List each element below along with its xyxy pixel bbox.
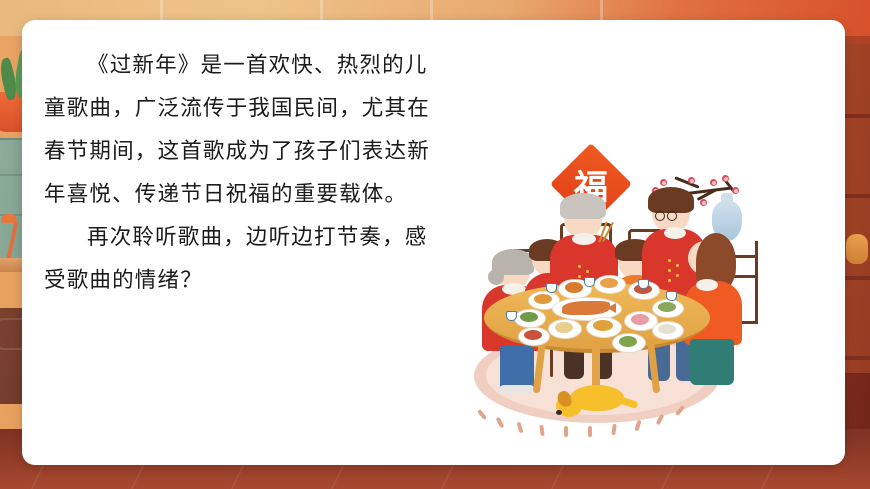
food <box>555 322 573 333</box>
tea-cup <box>666 291 677 301</box>
tea-cup <box>584 277 595 287</box>
paragraph-1: 《过新年》是一首欢快、热烈的儿童歌曲，广泛流传于我国民间，尤其在春节期间，这首歌… <box>44 44 434 216</box>
glasses-icon <box>667 211 677 221</box>
food <box>524 330 542 340</box>
food <box>658 324 676 334</box>
glasses-icon <box>655 211 665 221</box>
food <box>658 302 676 312</box>
whole-fish-dish <box>562 301 610 315</box>
food <box>534 294 552 304</box>
food <box>520 312 538 322</box>
desk-lamp-head <box>1 214 17 223</box>
dog-nose <box>556 410 562 415</box>
slide: 《过新年》是一首欢快、热烈的儿童歌曲，广泛流传于我国民间，尤其在春节期间，这首歌… <box>0 0 870 489</box>
food <box>565 282 583 293</box>
tea-cup <box>506 311 517 321</box>
tea-cup <box>546 283 557 293</box>
food <box>619 336 637 347</box>
body-text: 《过新年》是一首欢快、热烈的儿童歌曲，广泛流传于我国民间，尤其在春节期间，这首歌… <box>44 44 434 302</box>
paragraph-2: 再次聆听歌曲，边听边打节奏，感受歌曲的情绪？ <box>44 216 434 302</box>
food <box>600 278 618 288</box>
new-year-reunion-illustration: 福 <box>452 133 752 433</box>
tea-cup <box>638 279 649 289</box>
food <box>631 314 649 325</box>
food <box>593 320 613 331</box>
